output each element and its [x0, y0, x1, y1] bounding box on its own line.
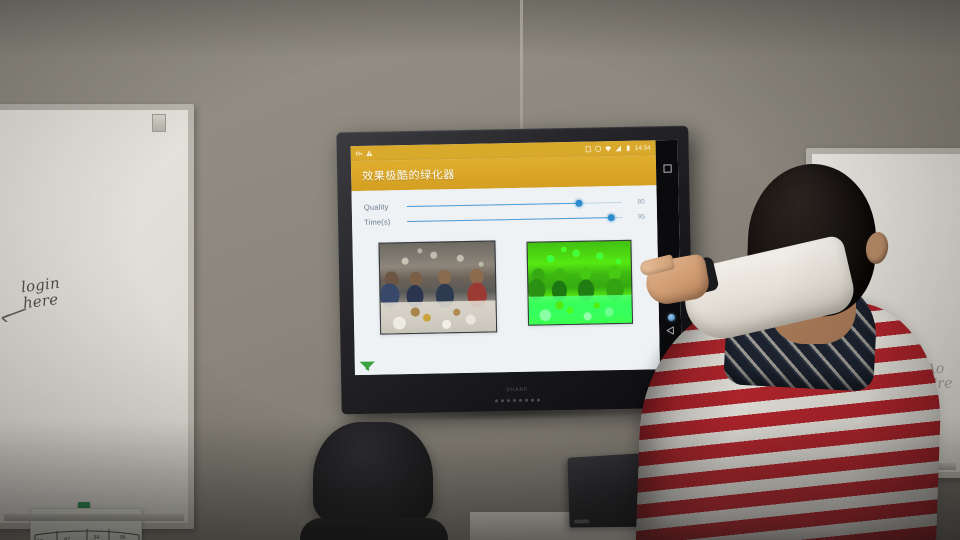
floor-shadow — [0, 420, 960, 540]
app-title: 效果极酷的绿化器 — [362, 166, 455, 184]
key-icon — [356, 150, 363, 157]
display-bezel: 14:34 效果极酷的绿化器 Quality — [351, 140, 682, 375]
greenified-photo[interactable] — [526, 240, 633, 326]
time-slider-value: 95 — [631, 213, 645, 220]
quality-slider-value: 80 — [631, 198, 645, 205]
status-bar-clock: 14:34 — [635, 145, 651, 151]
quality-slider-label: Quality — [364, 202, 398, 212]
quality-slider-track[interactable] — [407, 197, 622, 211]
slider-fill — [407, 217, 611, 223]
slider-fill — [407, 202, 579, 207]
shield-icon — [595, 145, 602, 152]
time-slider-label: Time(s) — [364, 217, 398, 227]
sd-card-icon — [585, 146, 592, 153]
android-screen[interactable]: 14:34 效果极酷的绿化器 Quality — [351, 140, 682, 375]
ceiling-shadow — [0, 0, 960, 58]
ir-receiver — [495, 399, 540, 403]
source-photo[interactable] — [379, 240, 498, 334]
whiteboard-login-note: login here — [20, 276, 62, 312]
app-content: Quality 80 Time(s) — [351, 185, 659, 375]
whiteboard-clip — [152, 114, 166, 132]
power-indicator-led — [668, 314, 675, 321]
image-compare-area — [364, 224, 648, 374]
triangle-back-icon[interactable] — [666, 326, 675, 335]
warning-triangle-icon — [366, 150, 373, 157]
time-slider-knob[interactable] — [608, 214, 615, 221]
square-recents-icon[interactable] — [662, 164, 671, 173]
wifi-icon — [605, 145, 612, 152]
signal-icon — [615, 145, 622, 152]
green-leaf-icon — [359, 360, 376, 372]
display-chin: SHARP — [341, 369, 694, 415]
quality-slider-knob[interactable] — [575, 200, 582, 207]
display-logo: SHARP — [506, 387, 528, 393]
battery-icon — [625, 145, 632, 152]
classroom-scene: login here 1F 42 — [0, 0, 960, 540]
time-slider-track[interactable] — [407, 212, 622, 226]
